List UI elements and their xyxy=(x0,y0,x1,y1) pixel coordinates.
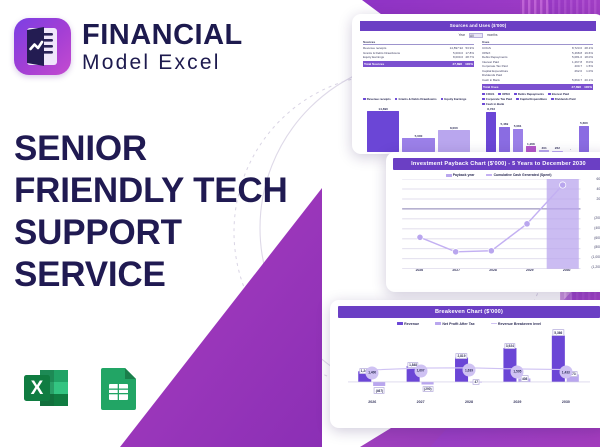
sources-total-row: Total Sources 27,898 100% xyxy=(363,61,474,67)
legend-swatch xyxy=(551,98,554,101)
table-row: Cash in Bank5,660.720.1% xyxy=(482,78,593,83)
sources-rows: Revenue receipts14,897.9253.9%Grants & D… xyxy=(363,46,474,60)
legend-item[interactable]: Payback year xyxy=(446,173,475,177)
y-axis-tick: 400 xyxy=(585,187,600,191)
legend-label: Interest Paid xyxy=(552,92,569,96)
legend-swatch xyxy=(441,98,444,101)
breakeven-value-bubble: 1,433 xyxy=(559,366,572,379)
sources-uses-legends: Revenue receiptsGrants & Debts Drawdowns… xyxy=(360,90,596,107)
bar-value-label: 8,000 xyxy=(450,126,458,130)
bar: 14,890 xyxy=(367,111,399,152)
bar: 5,081 xyxy=(513,129,523,153)
bar-value-label: 401 xyxy=(542,146,547,150)
sources-uses-title: Sources and Uses ($'000) xyxy=(360,21,596,31)
bar-group: 5,081 xyxy=(513,108,523,152)
bar-group: 1,268 xyxy=(526,108,536,152)
row-value: 8,000.0 xyxy=(448,55,463,60)
bar-group: 262 xyxy=(552,108,562,152)
y-axis-tick: (1,000) xyxy=(585,255,600,259)
bar: 5,660 xyxy=(579,126,589,152)
sources-and-uses-card[interactable]: Sources and Uses ($'000) Year All months… xyxy=(352,14,600,154)
legend-swatch xyxy=(435,322,441,325)
x-axis-tick: 2028 xyxy=(445,400,493,404)
breakeven-legend: RevenueNet Profit After TaxRevenue Break… xyxy=(338,322,600,326)
sources-legend: Revenue receiptsGrants & Debts Drawdowns… xyxy=(363,92,474,106)
y-axis-tick: - xyxy=(585,206,600,210)
page-title: SENIOR FRIENDLY TECH SUPPORT SERVICE xyxy=(14,128,314,296)
legend-label: Net Profit After Tax xyxy=(442,322,474,326)
uses-header: Uses xyxy=(482,40,593,46)
google-sheets-icon xyxy=(92,362,144,414)
row-label: Equity Earnings xyxy=(363,55,448,60)
bar-value-label: 1,268 xyxy=(527,142,535,146)
legend-label: Debts Repayments xyxy=(518,92,544,96)
payback-chart-title: Investment Payback Chart ($'000) - 5 Yea… xyxy=(393,158,600,170)
x-axis-tick: 2026 xyxy=(348,400,396,404)
row-pct: 20.1% xyxy=(582,78,593,83)
y-axis-tick: (1,200) xyxy=(585,265,600,269)
headline-line-4: SERVICE xyxy=(14,254,314,296)
headline-line-2: FRIENDLY TECH xyxy=(14,170,314,212)
year-label: Year xyxy=(459,33,465,37)
legend-item[interactable]: Revenue receipts xyxy=(363,92,391,106)
legend-swatch xyxy=(482,103,485,106)
payback-y-axis: 600400200-(200)(400)(600)(800)(1,000)(1,… xyxy=(585,179,600,267)
net-profit-value-label: 47 xyxy=(473,379,480,385)
supported-apps: X xyxy=(20,362,144,414)
legend-label: Grants & Debts Drawdowns xyxy=(399,97,437,101)
bar-value-label: 5,469 xyxy=(501,122,509,126)
row-label: Cash in Bank xyxy=(482,78,567,83)
row-value: 5,660.7 xyxy=(567,78,582,83)
uses-total-row: Total Uses 27,898 100% xyxy=(482,84,593,90)
bar-value-label: 5,660 xyxy=(580,121,588,125)
sources-column: Sources Revenue receipts14,897.9253.9%Gr… xyxy=(363,40,474,90)
sources-uses-controls[interactable]: Year All months xyxy=(360,33,596,37)
legend-item[interactable]: Interest Paid xyxy=(548,92,569,96)
x-axis-tick: 2030 xyxy=(542,400,590,404)
poster-canvas: FINANCIAL Model Excel SENIOR FRIENDLY TE… xyxy=(0,0,600,447)
headline-line-1: SENIOR xyxy=(14,128,314,170)
legend-item[interactable]: Revenue Breakeven level xyxy=(491,322,541,326)
legend-swatch xyxy=(516,98,519,101)
sources-bar-chart: 14,8905,0008,000 xyxy=(363,108,474,152)
revenue-value-label: 2,819 xyxy=(456,353,467,359)
breakeven-value-bubble: 1,505 xyxy=(511,365,524,378)
uses-total-label: Total Uses xyxy=(483,85,566,89)
payback-plot: 600400200-(200)(400)(600)(800)(1,000)(1,… xyxy=(394,179,600,267)
bar-group: 5,000 xyxy=(402,108,434,152)
headline-line-3: SUPPORT xyxy=(14,212,314,254)
uses-total-pct: 100% xyxy=(581,85,592,89)
sources-total-label: Total Sources xyxy=(364,62,447,66)
bar: 8,000 xyxy=(438,130,470,152)
legend-swatch xyxy=(486,174,492,175)
legend-item[interactable]: Net Profit After Tax xyxy=(435,322,475,326)
bar-value-label: - xyxy=(570,147,571,151)
bar: 5,469 xyxy=(499,127,509,152)
y-axis-tick: (200) xyxy=(585,216,600,220)
legend-item[interactable]: Cash in Bank xyxy=(482,102,504,106)
legend-item[interactable]: Debts Repayments xyxy=(514,92,544,96)
legend-item[interactable]: Dividends Paid xyxy=(551,97,576,101)
y-axis-tick: 600 xyxy=(585,177,600,181)
legend-label: Cash in Bank xyxy=(486,102,504,106)
breakeven-value-bubble: 1,607 xyxy=(414,364,427,377)
legend-label: COGS xyxy=(486,92,495,96)
legend-item[interactable]: Grants & Debts Drawdowns xyxy=(395,92,437,106)
x-axis-tick: 2027 xyxy=(396,400,444,404)
financial-chart-document-icon xyxy=(14,18,71,75)
uses-rows: COGS8,723.028.1%OPEX5,468.819.6%Debts Re… xyxy=(482,46,593,82)
bar-value-label: 262 xyxy=(555,146,560,150)
legend-item[interactable]: Revenue xyxy=(397,322,419,326)
legend-label: Capital Expenditure xyxy=(520,97,547,101)
bar-group: 5,469 xyxy=(499,108,509,152)
breakeven-card[interactable]: Breakeven Chart ($'000) RevenueNet Profi… xyxy=(330,300,600,428)
row-pct: 28.7% xyxy=(463,55,474,60)
legend-swatch xyxy=(395,98,398,101)
legend-label: Revenue xyxy=(404,322,419,326)
bar-group: 8,000 xyxy=(438,108,470,152)
breakeven-x-axis: 20262027202820292030 xyxy=(348,400,590,404)
sources-total-pct: 100% xyxy=(462,62,473,66)
legend-swatch xyxy=(548,93,551,96)
legend-item[interactable]: Capital Expenditure xyxy=(516,97,547,101)
microsoft-excel-icon: X xyxy=(20,362,72,414)
legend-label: Cumulative Cash Generated (Spent) xyxy=(494,173,552,177)
investment-payback-card[interactable]: Investment Payback Chart ($'000) - 5 Yea… xyxy=(386,152,600,292)
brand-name-secondary: Model Excel xyxy=(82,52,221,73)
bar-value-label: 8,723 xyxy=(487,107,495,111)
legend-label: Equity Earnings xyxy=(444,97,466,101)
svg-text:X: X xyxy=(31,378,44,399)
bar: 8,723 xyxy=(486,112,496,152)
uses-column: Uses COGS8,723.028.1%OPEX5,468.819.6%Deb… xyxy=(482,40,593,90)
legend-swatch xyxy=(482,93,485,96)
bar-value-label: 14,890 xyxy=(378,107,387,111)
revenue-value-label: 3,924 xyxy=(504,343,515,349)
sources-header: Sources xyxy=(363,40,474,46)
net-profit-value-label: (467) xyxy=(374,387,385,393)
legend-item[interactable]: Equity Earnings xyxy=(441,92,467,106)
sources-total-value: 27,898 xyxy=(447,62,462,66)
breakeven-chart-title: Breakeven Chart ($'000) xyxy=(338,306,600,318)
bar-value-label: 5,081 xyxy=(514,124,522,128)
bar-value-label: 5,000 xyxy=(415,134,423,138)
uses-legend: COGSOPEXDebts RepaymentsInterest PaidCor… xyxy=(482,92,593,106)
x-axis-tick: 2029 xyxy=(493,400,541,404)
units-label: months xyxy=(487,33,497,37)
legend-label: Corporate Tax Paid xyxy=(486,97,512,101)
legend-label: Dividends Paid xyxy=(555,97,576,101)
sources-uses-bar-charts: 14,8905,0008,000 8,7235,4695,0811,268401… xyxy=(360,108,596,152)
sources-uses-table: Sources Revenue receipts14,897.9253.9%Gr… xyxy=(360,40,596,90)
legend-swatch xyxy=(397,322,403,325)
uses-bar-chart: 8,7235,4695,0811,268401262-5,660 xyxy=(482,108,593,152)
bar-group: 5,660 xyxy=(579,108,589,152)
bar-group: 14,890 xyxy=(367,108,399,152)
revenue-value-label: 5,366 xyxy=(553,329,564,335)
legend-label: Revenue receipts xyxy=(367,97,391,101)
y-axis-tick: 200 xyxy=(585,197,600,201)
legend-item[interactable]: Cumulative Cash Generated (Spent) xyxy=(486,173,551,177)
legend-swatch xyxy=(446,174,452,177)
year-select[interactable]: All xyxy=(469,33,483,37)
legend-item[interactable]: Corporate Tax Paid xyxy=(482,97,512,101)
net-profit-value-label: (290) xyxy=(422,386,433,392)
payback-legend: Payback yearCumulative Cash Generated (S… xyxy=(393,173,600,177)
legend-label: Payback year xyxy=(453,173,475,177)
legend-swatch xyxy=(363,98,366,101)
brand-logo: FINANCIAL Model Excel xyxy=(14,18,243,75)
table-row: Equity Earnings8,000.028.7% xyxy=(363,55,474,60)
legend-swatch xyxy=(514,93,517,96)
legend-swatch xyxy=(491,323,497,324)
y-axis-tick: (600) xyxy=(585,236,600,240)
legend-label: OPEX xyxy=(502,92,510,96)
y-axis-tick: (400) xyxy=(585,226,600,230)
legend-label: Revenue Breakeven level xyxy=(498,322,541,326)
uses-total-value: 27,898 xyxy=(566,85,581,89)
breakeven-plot: 20262027202820292030 1,240(467)1,4001,84… xyxy=(348,328,590,404)
legend-item[interactable]: OPEX xyxy=(498,92,510,96)
y-axis-tick: (800) xyxy=(585,245,600,249)
bar-group: 8,723 xyxy=(486,108,496,152)
bar-group: 401 xyxy=(539,108,549,152)
bar: 5,000 xyxy=(402,138,434,152)
legend-swatch xyxy=(482,98,485,101)
bar-group: - xyxy=(566,108,576,152)
breakeven-value-bubble: 1,639 xyxy=(463,364,476,377)
legend-item[interactable]: COGS xyxy=(482,92,494,96)
breakeven-value-bubble: 1,400 xyxy=(366,366,379,379)
legend-swatch xyxy=(498,93,501,96)
brand-name-primary: FINANCIAL xyxy=(82,21,243,50)
